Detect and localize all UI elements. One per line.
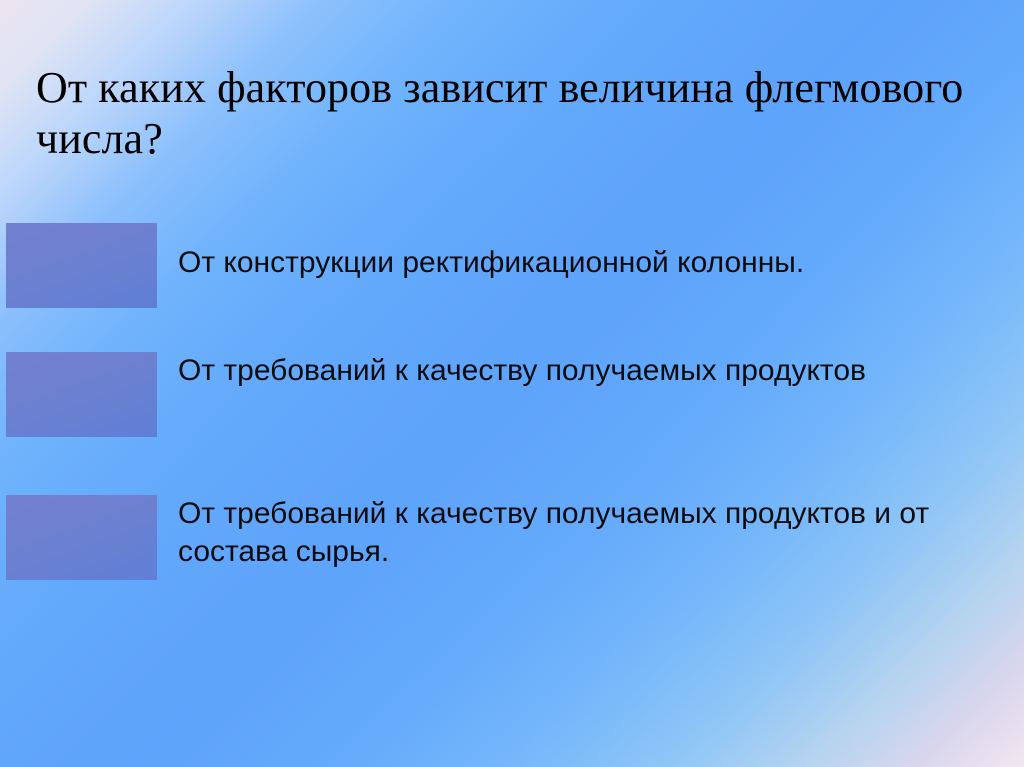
slide-content-layer: От каких факторов зависит величина флегм… xyxy=(0,0,1024,767)
bullet-marker-rectangle-icon xyxy=(6,223,157,308)
bullet-marker-rectangle-icon xyxy=(6,495,157,580)
bullet-text: От требований к качеству получаемых прод… xyxy=(178,352,1008,390)
presentation-slide: От каких факторов зависит величина флегм… xyxy=(0,0,1024,767)
slide-title: От каких факторов зависит величина флегм… xyxy=(36,63,976,164)
bullet-text: От требований к качеству получаемых прод… xyxy=(178,495,1008,572)
bullet-marker-rectangle-icon xyxy=(6,352,157,437)
bullet-text: От конструкции ректификационной колонны. xyxy=(178,244,1008,282)
